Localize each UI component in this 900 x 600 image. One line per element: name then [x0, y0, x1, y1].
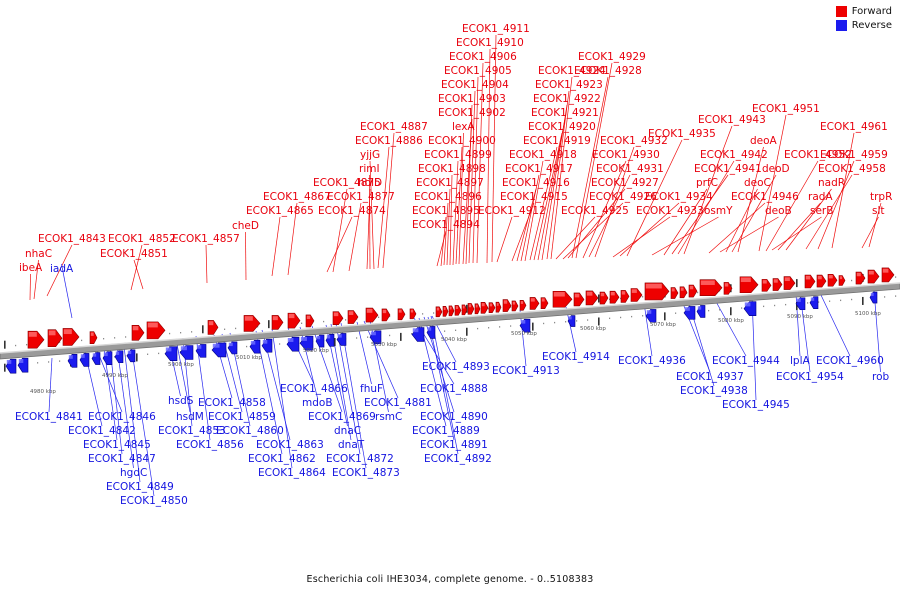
- forward-gene-label[interactable]: ECOK1_4942: [700, 150, 768, 161]
- forward-gene-label[interactable]: ECOK1_4887: [360, 122, 428, 133]
- reverse-gene-label[interactable]: iadA: [50, 264, 73, 275]
- forward-gene-label[interactable]: radA: [808, 192, 833, 203]
- forward-gene-label[interactable]: ECOK1_4923: [535, 80, 603, 91]
- axis-tick-label: 5070 kbp: [650, 322, 676, 328]
- reverse-gene-label[interactable]: mdoB: [302, 398, 333, 409]
- gene-arrow-highlight: [307, 316, 310, 319]
- forward-gene-label[interactable]: ECOK1_4946: [731, 192, 799, 203]
- gene-arrow-highlight: [437, 308, 439, 311]
- legend: Forward Reverse: [836, 6, 892, 34]
- gene-arrow-highlight: [725, 283, 728, 286]
- gene-arrow-highlight: [251, 341, 256, 345]
- reverse-gene-label[interactable]: rsmC: [375, 412, 402, 423]
- gene-arrow-highlight: [367, 309, 373, 313]
- forward-gene-label[interactable]: ECOK1_4894: [412, 220, 480, 231]
- forward-gene-label[interactable]: ECOK1_4935: [648, 129, 716, 140]
- reverse-gene-label[interactable]: lplA: [790, 356, 810, 367]
- gene-arrow-highlight: [371, 332, 376, 336]
- axis-tick-label: 5010 kbp: [236, 355, 262, 361]
- gene-arrow-highlight: [797, 299, 801, 302]
- gene-arrow-highlight: [741, 278, 751, 282]
- forward-gene-label[interactable]: ECOK1_4933: [636, 206, 704, 217]
- gene-arrow-highlight: [611, 292, 615, 295]
- axis-tick-label: 5100 kbp: [855, 311, 881, 317]
- forward-gene-label[interactable]: ECOK1_4912: [478, 206, 546, 217]
- gene-arrow-highlight: [7, 360, 12, 364]
- gene-arrow-highlight: [148, 323, 158, 328]
- forward-gene-label[interactable]: ECOK1_4905: [444, 66, 512, 77]
- forward-gene-label[interactable]: ECOK1_4951: [752, 104, 820, 115]
- reverse-gene-label[interactable]: ECOK1_4841: [15, 412, 83, 423]
- reverse-gene-label[interactable]: ECOK1_4856: [176, 440, 244, 451]
- forward-gene-label[interactable]: ECOK1_4911: [462, 24, 530, 35]
- gene-arrow-highlight: [93, 353, 96, 356]
- gene-arrow-highlight: [229, 343, 233, 346]
- axis-tick-label: 5000 kbp: [168, 362, 194, 368]
- gene-arrow-highlight: [840, 276, 842, 279]
- axis-tick-label: 4990 kbp: [102, 373, 128, 379]
- gene-arrow-highlight: [288, 338, 294, 342]
- gene-arrow-highlight: [327, 335, 330, 338]
- forward-gene-label[interactable]: holD: [358, 178, 382, 189]
- forward-gene-label[interactable]: deoB: [765, 206, 792, 217]
- gene-arrow-highlight: [646, 284, 662, 289]
- reverse-gene-label[interactable]: hgdC: [120, 468, 147, 479]
- forward-gene-label[interactable]: ECOK1_4918: [509, 150, 577, 161]
- label-leader-line: [714, 298, 746, 356]
- reverse-gene-label[interactable]: ECOK1_4891: [420, 440, 488, 451]
- reverse-gene-label[interactable]: ECOK1_4889: [412, 426, 480, 437]
- axis-tick-label: 5050 kbp: [511, 331, 537, 337]
- gene-arrow-highlight: [338, 334, 342, 337]
- reverse-gene-label[interactable]: ECOK1_4893: [422, 362, 490, 373]
- gene-arrow-highlight: [181, 346, 187, 350]
- forward-gene-label[interactable]: ECOK1_4897: [416, 178, 484, 189]
- forward-gene-label[interactable]: ECOK1_4941: [694, 164, 762, 175]
- forward-gene-label[interactable]: ECOK1_4915: [500, 192, 568, 203]
- axis-tick-label: 5040 kbp: [441, 337, 467, 343]
- forward-gene-label[interactable]: ECOK1_4910: [456, 38, 524, 49]
- gene-arrow-highlight: [871, 293, 874, 296]
- label-leader-line: [772, 217, 822, 250]
- forward-gene-label[interactable]: ECOK1_4921: [531, 108, 599, 119]
- label-leader-line: [49, 358, 52, 412]
- forward-gene-label[interactable]: ECOK1_4930: [592, 150, 660, 161]
- forward-gene-label[interactable]: ECOK1_4916: [502, 178, 570, 189]
- reverse-gene-label[interactable]: ECOK1_4888: [420, 384, 488, 395]
- gene-arrow-highlight: [745, 302, 751, 306]
- reverse-gene-label[interactable]: hsdM: [176, 412, 204, 423]
- reverse-gene-label[interactable]: rob: [872, 372, 889, 383]
- gene-arrow-highlight: [497, 303, 499, 306]
- gene-arrow-highlight: [587, 292, 593, 296]
- reverse-gene-label[interactable]: ECOK1_4842: [68, 426, 136, 437]
- gene-arrow-highlight: [806, 276, 811, 280]
- forward-gene-label[interactable]: osmY: [704, 206, 733, 217]
- gene-arrow-highlight: [698, 306, 701, 309]
- reverse-gene-label[interactable]: ECOK1_4866: [280, 384, 348, 395]
- forward-gene-label[interactable]: ECOK1_4902: [438, 108, 506, 119]
- gene-arrow-highlight: [857, 273, 861, 276]
- gene-arrow-highlight: [632, 289, 637, 293]
- label-leader-line: [684, 126, 732, 254]
- gene-arrow-highlight: [811, 297, 814, 300]
- gene-arrow-highlight: [91, 333, 94, 336]
- axis-tick-label: 5090 kbp: [787, 314, 813, 320]
- forward-gene-label[interactable]: ECOK1_4874: [318, 206, 386, 217]
- axis-tick-label: 5020 kbp: [303, 348, 329, 354]
- gene-arrow-highlight: [521, 320, 526, 324]
- reverse-gene-label[interactable]: ECOK1_4845: [83, 440, 151, 451]
- reverse-gene-label[interactable]: ECOK1_4859: [208, 412, 276, 423]
- forward-gene-label[interactable]: ECOK1_4931: [596, 164, 664, 175]
- reverse-gene-label[interactable]: ECOK1_4864: [258, 468, 326, 479]
- forward-gene-label[interactable]: ECOK1_4852: [108, 234, 176, 245]
- forward-gene-label[interactable]: ECOK1_4896: [414, 192, 482, 203]
- reverse-gene-label[interactable]: ECOK1_4849: [106, 482, 174, 493]
- forward-gene-label[interactable]: ECOK1_4886: [355, 136, 423, 147]
- gene-arrow-highlight: [133, 326, 139, 330]
- forward-gene-label[interactable]: ECOK1_4903: [438, 94, 506, 105]
- label-leader-line: [497, 217, 512, 262]
- forward-gene-label[interactable]: prfC: [696, 178, 718, 189]
- gene-arrow-highlight: [213, 344, 220, 348]
- forward-gene-label[interactable]: trpR: [870, 192, 892, 203]
- reverse-gene-label[interactable]: ECOK1_4954: [776, 372, 844, 383]
- gene-arrow-highlight: [490, 304, 492, 307]
- reverse-gene-label[interactable]: ECOK1_4938: [680, 386, 748, 397]
- gene-arrow-highlight: [463, 306, 465, 309]
- forward-gene-label[interactable]: deoC: [744, 178, 771, 189]
- legend-label-forward: Forward: [852, 6, 892, 17]
- reverse-gene-label[interactable]: ECOK1_4860: [216, 426, 284, 437]
- gene-arrow-highlight: [444, 307, 446, 310]
- reverse-gene-label[interactable]: dnaT: [338, 440, 364, 451]
- gene-arrow-highlight: [263, 340, 268, 344]
- gene-arrow-highlight: [81, 354, 85, 358]
- gene-arrow-highlight: [701, 281, 715, 285]
- forward-color-swatch: [836, 6, 847, 17]
- forward-gene-label[interactable]: ibeA: [19, 263, 42, 274]
- forward-gene-label[interactable]: ECOK1_4898: [418, 164, 486, 175]
- forward-gene-label[interactable]: ECOK1_4843: [38, 234, 106, 245]
- reverse-gene-label[interactable]: ECOK1_4944: [712, 356, 780, 367]
- forward-gene-label[interactable]: yjjG: [360, 150, 380, 161]
- gene-arrow-highlight: [104, 352, 108, 356]
- gene-arrow-highlight: [521, 301, 523, 304]
- gene-arrow-highlight: [785, 277, 790, 281]
- legend-label-reverse: Reverse: [852, 20, 892, 31]
- label-leader-line: [327, 217, 352, 272]
- forward-gene-label[interactable]: deoA: [750, 136, 777, 147]
- gene-arrow-highlight: [209, 321, 214, 325]
- gene-arrow-highlight: [166, 348, 172, 352]
- legend-item-reverse[interactable]: Reverse: [836, 20, 892, 31]
- forward-gene-label[interactable]: rimI: [359, 164, 380, 175]
- label-leader-line: [370, 175, 371, 269]
- gene-arrow-highlight: [399, 310, 402, 313]
- gene-arrow-highlight: [685, 307, 690, 311]
- reverse-gene-label[interactable]: ECOK1_4869: [308, 412, 376, 423]
- gene-arrow-highlight: [622, 291, 625, 294]
- axis-tick-label: 5080 kbp: [718, 318, 744, 324]
- gene-arrow-highlight: [273, 316, 278, 320]
- gene-arrow-highlight: [531, 298, 535, 301]
- gene-arrow-highlight: [317, 336, 320, 339]
- reverse-gene-label[interactable]: ECOK1_4892: [424, 454, 492, 465]
- gene-arrow-highlight: [774, 279, 778, 282]
- forward-gene-label[interactable]: ECOK1_4906: [449, 52, 517, 63]
- label-leader-line: [820, 293, 850, 356]
- gene-arrow-highlight: [456, 306, 458, 309]
- gene-arrow-highlight: [411, 310, 413, 313]
- gene-arrow-highlight: [829, 275, 833, 278]
- label-leader-line: [246, 232, 247, 280]
- reverse-gene-label[interactable]: ECOK1_4936: [618, 356, 686, 367]
- forward-gene-label[interactable]: ECOK1_4917: [505, 164, 573, 175]
- forward-gene-label[interactable]: slt: [872, 206, 885, 217]
- forward-gene-label[interactable]: ECOK1_4959: [820, 150, 888, 161]
- gene-arrow-highlight: [349, 311, 354, 315]
- gene-arrow-highlight: [383, 310, 386, 313]
- gene-arrow-highlight: [513, 302, 515, 305]
- forward-gene-label[interactable]: ECOK1_4865: [246, 206, 314, 217]
- gene-arrow-highlight: [116, 352, 119, 355]
- genome-backbone: [0, 283, 900, 359]
- reverse-gene-label[interactable]: ECOK1_4847: [88, 454, 156, 465]
- forward-gene-label[interactable]: nadR: [818, 178, 845, 189]
- gene-arrow-highlight: [869, 271, 874, 275]
- forward-gene-label[interactable]: ECOK1_4877: [327, 192, 395, 203]
- gene-arrow-highlight: [450, 307, 452, 310]
- gene-arrow-highlight: [883, 269, 889, 273]
- gene-arrow-highlight: [763, 280, 767, 283]
- axis-tick-label: 5030 kbp: [371, 342, 397, 348]
- reverse-gene-label[interactable]: ECOK1_4846: [88, 412, 156, 423]
- reverse-gene-label[interactable]: hsdS: [168, 396, 193, 407]
- gene-arrow-highlight: [672, 288, 675, 291]
- forward-gene-label[interactable]: serB: [810, 206, 833, 217]
- gene-arrow-highlight: [301, 337, 307, 341]
- gene-arrow-highlight: [428, 327, 431, 330]
- reverse-gene-label[interactable]: fhuF: [360, 384, 383, 395]
- reverse-gene-label[interactable]: ECOK1_4863: [256, 440, 324, 451]
- forward-gene-label[interactable]: ECOK1_4857: [172, 234, 240, 245]
- forward-gene-label[interactable]: cheD: [232, 221, 259, 232]
- gene-arrow-highlight: [569, 316, 572, 319]
- gene-arrow-highlight: [504, 300, 507, 303]
- gene-arrow-highlight: [690, 286, 693, 289]
- label-leader-line: [556, 217, 595, 259]
- gene-arrow-highlight: [64, 329, 72, 334]
- gene-arrow-highlight: [575, 294, 580, 298]
- reverse-gene-label[interactable]: ECOK1_4873: [332, 468, 400, 479]
- gene-arrow-highlight: [245, 316, 253, 320]
- legend-item-forward[interactable]: Forward: [836, 6, 892, 17]
- gene-arrow-highlight: [818, 276, 822, 279]
- gene-arrow-highlight: [647, 310, 652, 314]
- gene-arrow-highlight: [197, 345, 202, 349]
- forward-gene-label[interactable]: ECOK1_4943: [698, 115, 766, 126]
- axis-tick-label: 5060 kbp: [580, 326, 606, 332]
- label-leader-line: [30, 274, 31, 300]
- forward-gene-label[interactable]: ECOK1_4851: [100, 249, 168, 260]
- forward-gene-label[interactable]: ECOK1_4920: [528, 122, 596, 133]
- reverse-gene-label[interactable]: dnaC: [334, 426, 361, 437]
- figure-caption: Escherichia coli IHE3034, complete genom…: [0, 574, 900, 585]
- reverse-gene-label[interactable]: ECOK1_4881: [364, 398, 432, 409]
- reverse-color-swatch: [836, 20, 847, 31]
- forward-gene-label[interactable]: ECOK1_4904: [441, 80, 509, 91]
- forward-gene-label[interactable]: deoD: [762, 164, 790, 175]
- gene-arrow-highlight: [542, 298, 545, 301]
- forward-gene-label[interactable]: ECOK1_4961: [820, 122, 888, 133]
- forward-gene-label[interactable]: ECOK1_4958: [818, 164, 886, 175]
- label-leader-line: [206, 245, 207, 283]
- forward-gene-label[interactable]: ECOK1_4925: [561, 206, 629, 217]
- gene-arrow-highlight: [469, 304, 471, 307]
- reverse-gene-label[interactable]: ECOK1_4960: [816, 356, 884, 367]
- forward-gene-label[interactable]: ECOK1_4867: [263, 192, 331, 203]
- reverse-gene-label[interactable]: ECOK1_4914: [542, 352, 610, 363]
- label-leader-line: [134, 260, 143, 289]
- gene-arrow-highlight: [554, 292, 565, 296]
- reverse-gene-label[interactable]: ECOK1_4890: [420, 412, 488, 423]
- forward-gene-label[interactable]: ECOK1_4899: [424, 150, 492, 161]
- reverse-gene-label[interactable]: ECOK1_4945: [722, 400, 790, 411]
- gene-arrow-highlight: [289, 314, 295, 318]
- reverse-gene-label[interactable]: ECOK1_4913: [492, 366, 560, 377]
- forward-gene-label[interactable]: ECOK1_4934: [645, 192, 713, 203]
- forward-gene-label[interactable]: ECOK1_4919: [523, 136, 591, 147]
- gene-arrow-highlight: [482, 303, 485, 306]
- gene-arrow-highlight: [413, 328, 419, 332]
- gene-arrow-highlight: [29, 332, 37, 337]
- gene-arrow-highlight: [334, 313, 339, 317]
- forward-gene-label[interactable]: ECOK1_4922: [533, 94, 601, 105]
- gene-arrow-highlight: [128, 351, 131, 354]
- forward-gene-label[interactable]: nhaC: [25, 249, 52, 260]
- forward-gene-label[interactable]: ECOK1_4895: [412, 206, 480, 217]
- reverse-gene-label[interactable]: ECOK1_4850: [120, 496, 188, 507]
- forward-gene-label[interactable]: ECOK1_4927: [591, 178, 659, 189]
- gene-arrow-highlight: [681, 288, 684, 291]
- axis-tick-label: 4980 kbp: [30, 389, 56, 395]
- gene-arrow-highlight: [19, 359, 24, 363]
- label-leader-line: [272, 217, 280, 276]
- reverse-gene-label[interactable]: ECOK1_4858: [198, 398, 266, 409]
- gene-arrow-highlight: [69, 355, 73, 359]
- gene-arrow-highlight: [601, 293, 604, 296]
- genome-map-canvas: ECOK1_4843nhaCibeAECOK1_4852ECOK1_4851EC…: [0, 0, 900, 600]
- gene-arrow-highlight: [49, 331, 56, 336]
- gene-arrow-highlight: [476, 305, 478, 308]
- forward-gene-label[interactable]: ECOK1_4928: [574, 66, 642, 77]
- forward-gene-label[interactable]: ECOK1_4900: [428, 136, 496, 147]
- forward-gene-label[interactable]: lexA: [452, 122, 475, 133]
- forward-gene-label[interactable]: ECOK1_4929: [578, 52, 646, 63]
- reverse-gene-label[interactable]: ECOK1_4872: [326, 454, 394, 465]
- reverse-gene-label[interactable]: ECOK1_4862: [248, 454, 316, 465]
- reverse-gene-label[interactable]: ECOK1_4937: [676, 372, 744, 383]
